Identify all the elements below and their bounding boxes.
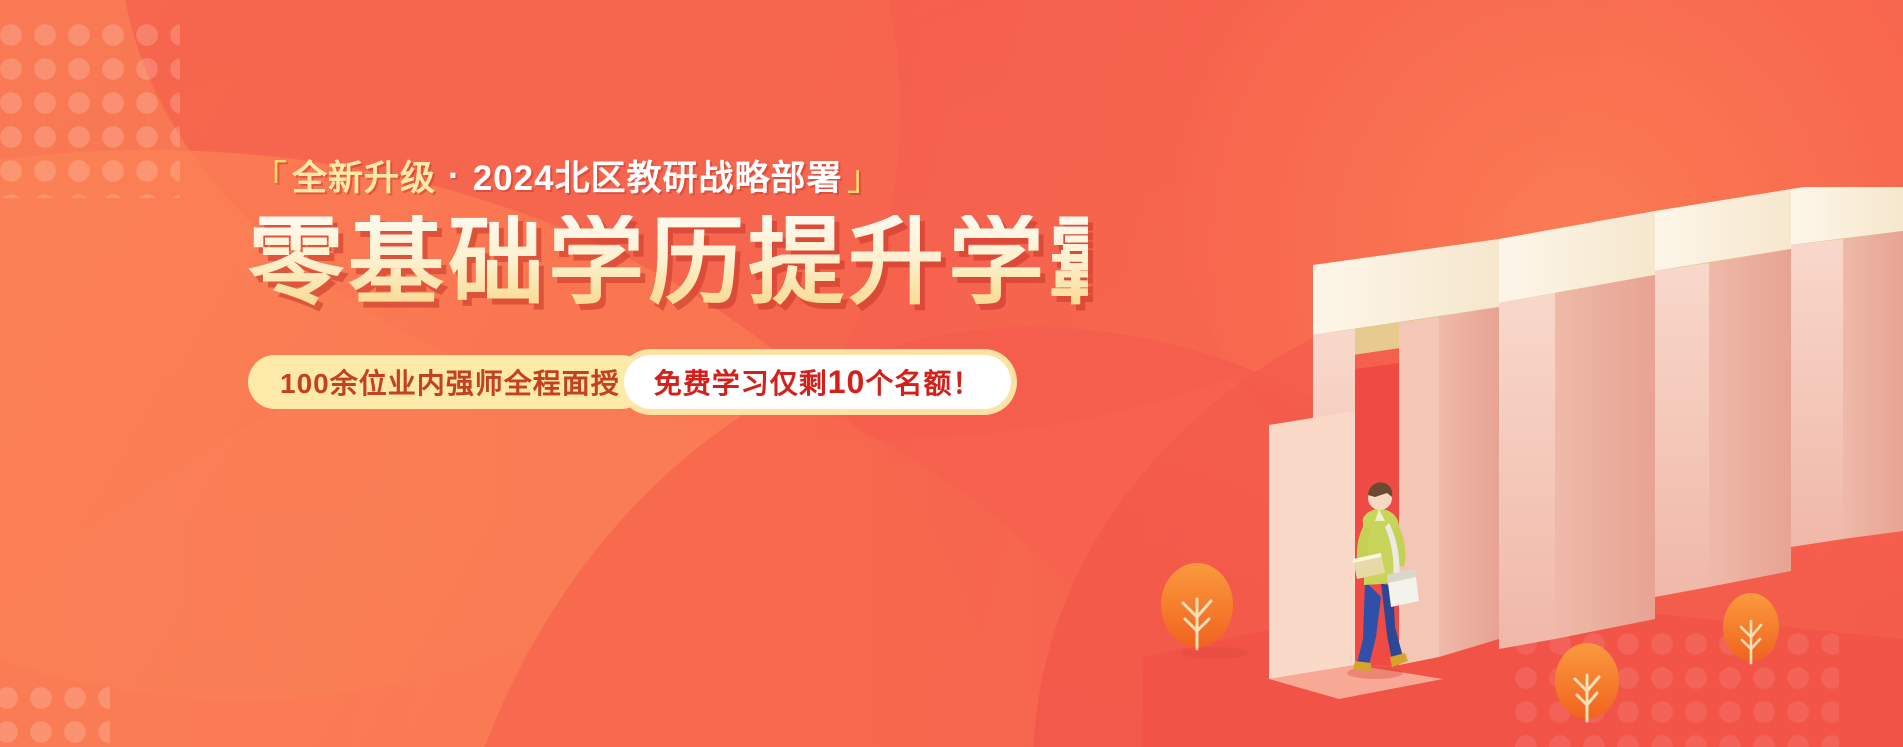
bracket-open: 「 bbox=[252, 150, 288, 201]
pill-row: 100余位业内强师全程面授 免费学习仅剩 10 个名额！ bbox=[248, 355, 1088, 409]
eyebrow-rest: 2024北区教研战略部署 bbox=[473, 150, 843, 201]
bracket-close: 」 bbox=[847, 150, 883, 201]
book-arch-4 bbox=[1791, 187, 1903, 547]
copy-block: 「 全新升级 · 2024北区教研战略部署 」 零基础学历提升学霸班 100余位… bbox=[248, 150, 1088, 409]
badge-instructors-label: 100余位业内强师全程面授 bbox=[280, 362, 620, 402]
dot-grid-bottom-left bbox=[0, 681, 110, 747]
page-title: 零基础学历提升学霸班 bbox=[248, 215, 1088, 311]
book-arch-2 bbox=[1499, 211, 1655, 649]
badge-seats-suffix: 个名额！ bbox=[865, 362, 981, 402]
badge-seats-prefix: 免费学习仅剩 bbox=[654, 362, 828, 402]
illustration-book-arches bbox=[1143, 187, 1903, 747]
badge-instructors: 100余位业内强师全程面授 bbox=[248, 355, 648, 409]
eyebrow-line: 「 全新升级 · 2024北区教研战略部署 」 bbox=[248, 150, 1088, 201]
book-arch-1 bbox=[1269, 239, 1499, 699]
book-arch-3 bbox=[1655, 189, 1791, 597]
promo-banner: 「 全新升级 · 2024北区教研战略部署 」 零基础学历提升学霸班 100余位… bbox=[0, 0, 1903, 747]
badge-seats-remaining[interactable]: 免费学习仅剩 10 个名额！ bbox=[624, 355, 1012, 409]
eyebrow-highlight: 全新升级 bbox=[292, 150, 436, 201]
eyebrow-separator: · bbox=[448, 156, 461, 196]
dot-grid-top-left bbox=[0, 18, 180, 198]
badge-seats-count: 10 bbox=[828, 364, 866, 401]
